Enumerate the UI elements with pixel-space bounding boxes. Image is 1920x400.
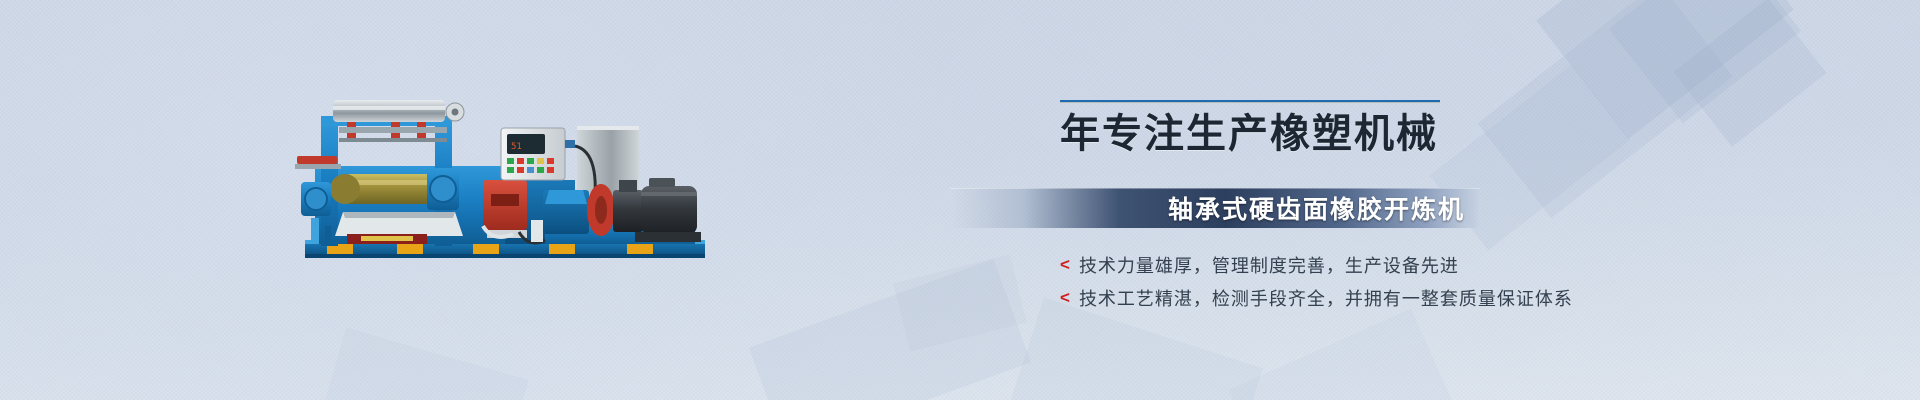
product-image: 51 — [287, 94, 724, 264]
svg-text:51: 51 — [511, 142, 522, 152]
headline-rule — [1060, 100, 1440, 103]
list-item-label: 技术工艺精湛，检测手段齐全，并拥有一整套质量保证体系 — [1079, 285, 1573, 311]
subtitle-text: 轴承式硬齿面橡胶开炼机 — [1168, 190, 1465, 226]
subtitle-bar: 轴承式硬齿面橡胶开炼机 — [950, 188, 1480, 228]
chevron-left-icon: < — [1060, 256, 1070, 273]
copy-block: 年专注生产橡塑机械 轴承式硬齿面橡胶开炼机 < 技术力量雄厚，管理制度完善，生产… — [1060, 100, 1760, 159]
promo-banner: 51 — [0, 0, 1920, 400]
page-title: 年专注生产橡塑机械 — [1060, 109, 1760, 159]
decorative-shape — [321, 328, 528, 400]
chevron-left-icon: < — [1060, 289, 1070, 306]
decorative-shape — [893, 255, 1026, 352]
decorative-shape — [749, 259, 1031, 400]
feature-list: < 技术力量雄厚，管理制度完善，生产设备先进 < 技术工艺精湛，检测手段齐全，并… — [1060, 248, 1573, 314]
list-item-label: 技术力量雄厚，管理制度完善，生产设备先进 — [1079, 252, 1459, 278]
decorative-shape — [1228, 309, 1451, 400]
list-item: < 技术力量雄厚，管理制度完善，生产设备先进 — [1060, 248, 1573, 281]
list-item: < 技术工艺精湛，检测手段齐全，并拥有一整套质量保证体系 — [1060, 281, 1573, 314]
